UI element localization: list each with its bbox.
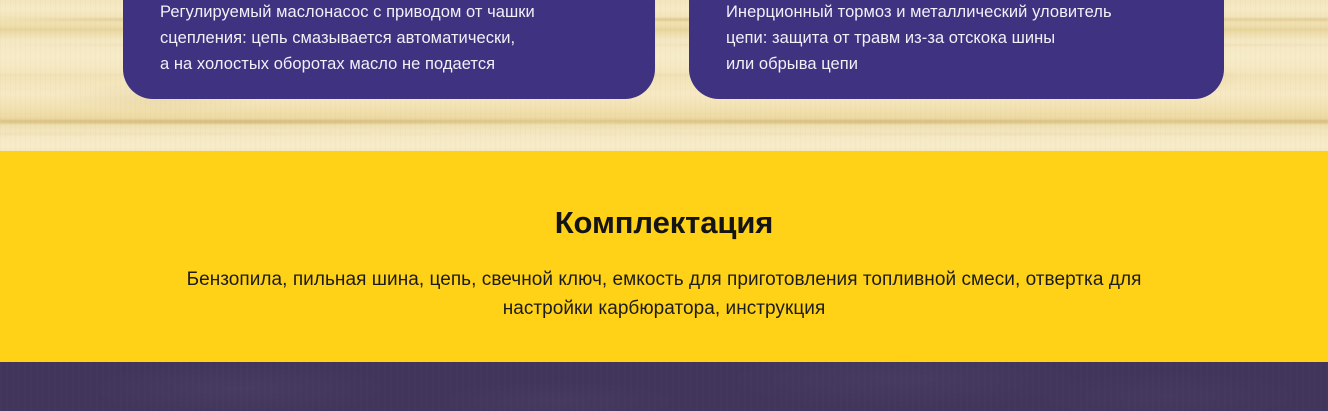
feature-card-text: Инерционный тормоз и металлический улови… (726, 0, 1188, 77)
kit-section-body: Бензопила, пильная шина, цепь, свечной к… (164, 241, 1164, 323)
page-footer (0, 362, 1328, 411)
feature-card-line: а на холостых оборотах масло не подается (160, 55, 495, 73)
kit-section: Комплектация Бензопила, пильная шина, це… (0, 151, 1328, 362)
footer-texture (0, 362, 1328, 411)
kit-section-title: Комплектация (114, 151, 1214, 241)
feature-card-chain-brake: Инерционный тормоз и металлический улови… (689, 0, 1224, 99)
wood-plank-seam (0, 120, 1328, 124)
feature-card-text: Регулируемый маслонасос с приводом от ча… (160, 0, 619, 77)
feature-card-line: Регулируемый маслонасос с приводом от ча… (160, 3, 535, 21)
feature-card-line: цепи: защита от травм из-за отскока шины (726, 29, 1055, 47)
feature-card-line: или обрыва цепи (726, 55, 858, 73)
kit-section-inner: Комплектация Бензопила, пильная шина, це… (114, 151, 1214, 323)
wood-grain-line (0, 133, 1328, 135)
feature-card-oil-pump: Регулируемый маслонасос с приводом от ча… (123, 0, 655, 99)
kit-body-line: Бензопила, пильная шина, цепь, свечной к… (187, 269, 1104, 290)
feature-card-line: сцепления: цепь смазывается автоматическ… (160, 29, 515, 47)
product-page: Регулируемый маслонасос с приводом от ча… (0, 0, 1328, 411)
feature-card-line: Инерционный тормоз и металлический улови… (726, 3, 1112, 21)
